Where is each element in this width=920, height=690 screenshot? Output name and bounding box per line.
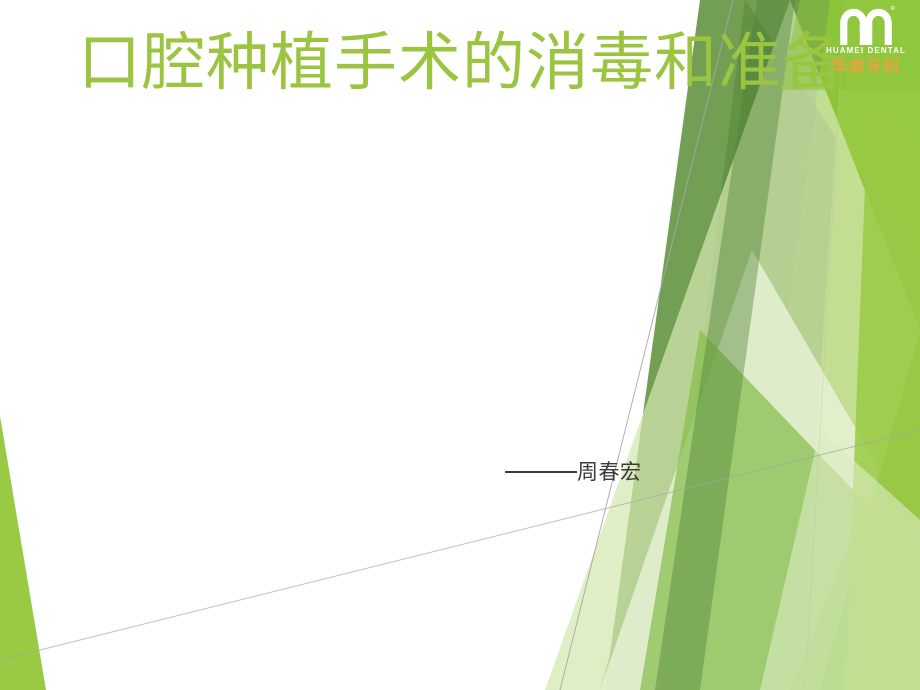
brand-logo: HUAMEI DENTAL 华美牙科 — [818, 0, 914, 82]
bg-hairline-diagonal-2 — [0, 430, 920, 660]
bg-shape-bottom-light-band — [760, 430, 920, 690]
logo-chinese-text: 华美牙科 — [831, 60, 901, 76]
presenter-container: 周春宏 — [505, 462, 642, 483]
bg-shape-lower-mid-green — [640, 330, 920, 690]
presenter-name: 周春宏 — [577, 462, 642, 483]
title-slide: 口腔种植手术的消毒和准备 周春宏 HUAMEI DENTAL 华美牙科 — [0, 0, 920, 690]
slide-title: 口腔种植手术的消毒和准备 — [78, 22, 848, 106]
bg-shape-right-sliver — [845, 110, 920, 690]
huamei-dental-m-monogram-icon — [837, 2, 895, 46]
title-container: 口腔种植手术的消毒和准备 — [78, 22, 848, 106]
bg-shape-left-triangle — [0, 416, 46, 690]
logo-english-text: HUAMEI DENTAL — [826, 47, 906, 55]
bg-shape-verypale-wedge — [600, 250, 880, 690]
presenter-dash-rule — [505, 471, 577, 473]
